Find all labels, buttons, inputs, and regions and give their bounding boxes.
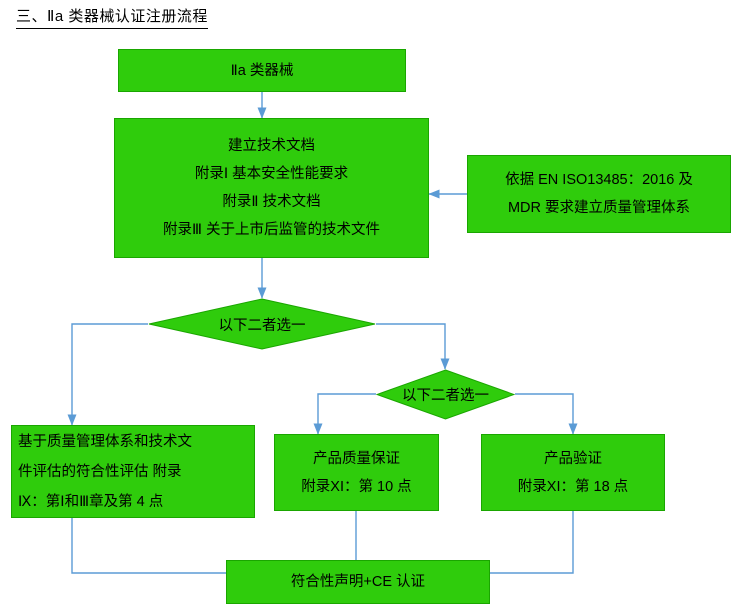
node-technical-documentation-line-1: 附录Ⅰ 基本安全性能要求	[195, 160, 348, 188]
node-annex-ix-line-0: 基于质量管理体系和技术文	[12, 427, 192, 457]
node-decision-two: 以下二者选一	[376, 369, 515, 420]
node-technical-documentation-line-2: 附录Ⅱ 技术文档	[222, 188, 320, 216]
node-annex-ix-line-2: Ⅸ：第Ⅰ和Ⅲ章及第 4 点	[12, 487, 163, 517]
page-title: 三、Ⅱa 类器械认证注册流程	[16, 7, 208, 29]
node-start-line-0: Ⅱa 类器械	[231, 57, 294, 85]
node-start: Ⅱa 类器械	[118, 49, 406, 92]
node-decision-two-label: 以下二者选一	[376, 369, 515, 420]
node-decision-one-label: 以下二者选一	[148, 298, 376, 350]
flowchart-canvas: 三、Ⅱa 类器械认证注册流程	[0, 0, 738, 613]
node-technical-documentation-line-0: 建立技术文档	[228, 132, 315, 160]
node-annex-xi-point-18: 产品验证 附录XI：第 18 点	[481, 434, 665, 511]
node-annex-xi-point-18-line-0: 产品验证	[544, 445, 602, 473]
node-technical-documentation: 建立技术文档 附录Ⅰ 基本安全性能要求 附录Ⅱ 技术文档 附录Ⅲ 关于上市后监管…	[114, 118, 429, 258]
node-annex-xi-point-10-line-0: 产品质量保证	[313, 445, 400, 473]
node-technical-documentation-line-3: 附录Ⅲ 关于上市后监管的技术文件	[163, 216, 380, 244]
node-annex-xi-point-18-line-1: 附录XI：第 18 点	[518, 473, 628, 501]
node-annex-xi-point-10-line-1: 附录XI：第 10 点	[301, 473, 411, 501]
node-quality-management-system-line-0: 依据 EN ISO13485：2016 及	[505, 166, 693, 194]
node-annex-ix-line-1: 件评估的符合性评估 附录	[12, 457, 182, 487]
node-decision-one: 以下二者选一	[148, 298, 376, 350]
node-annex-xi-point-10: 产品质量保证 附录XI：第 10 点	[274, 434, 439, 511]
node-declaration-of-conformity-line-0: 符合性声明+CE 认证	[291, 568, 425, 596]
node-annex-ix: 基于质量管理体系和技术文 件评估的符合性评估 附录 Ⅸ：第Ⅰ和Ⅲ章及第 4 点	[11, 425, 255, 518]
node-declaration-of-conformity: 符合性声明+CE 认证	[226, 560, 490, 604]
node-quality-management-system: 依据 EN ISO13485：2016 及 MDR 要求建立质量管理体系	[467, 155, 731, 233]
node-quality-management-system-line-1: MDR 要求建立质量管理体系	[508, 194, 690, 222]
